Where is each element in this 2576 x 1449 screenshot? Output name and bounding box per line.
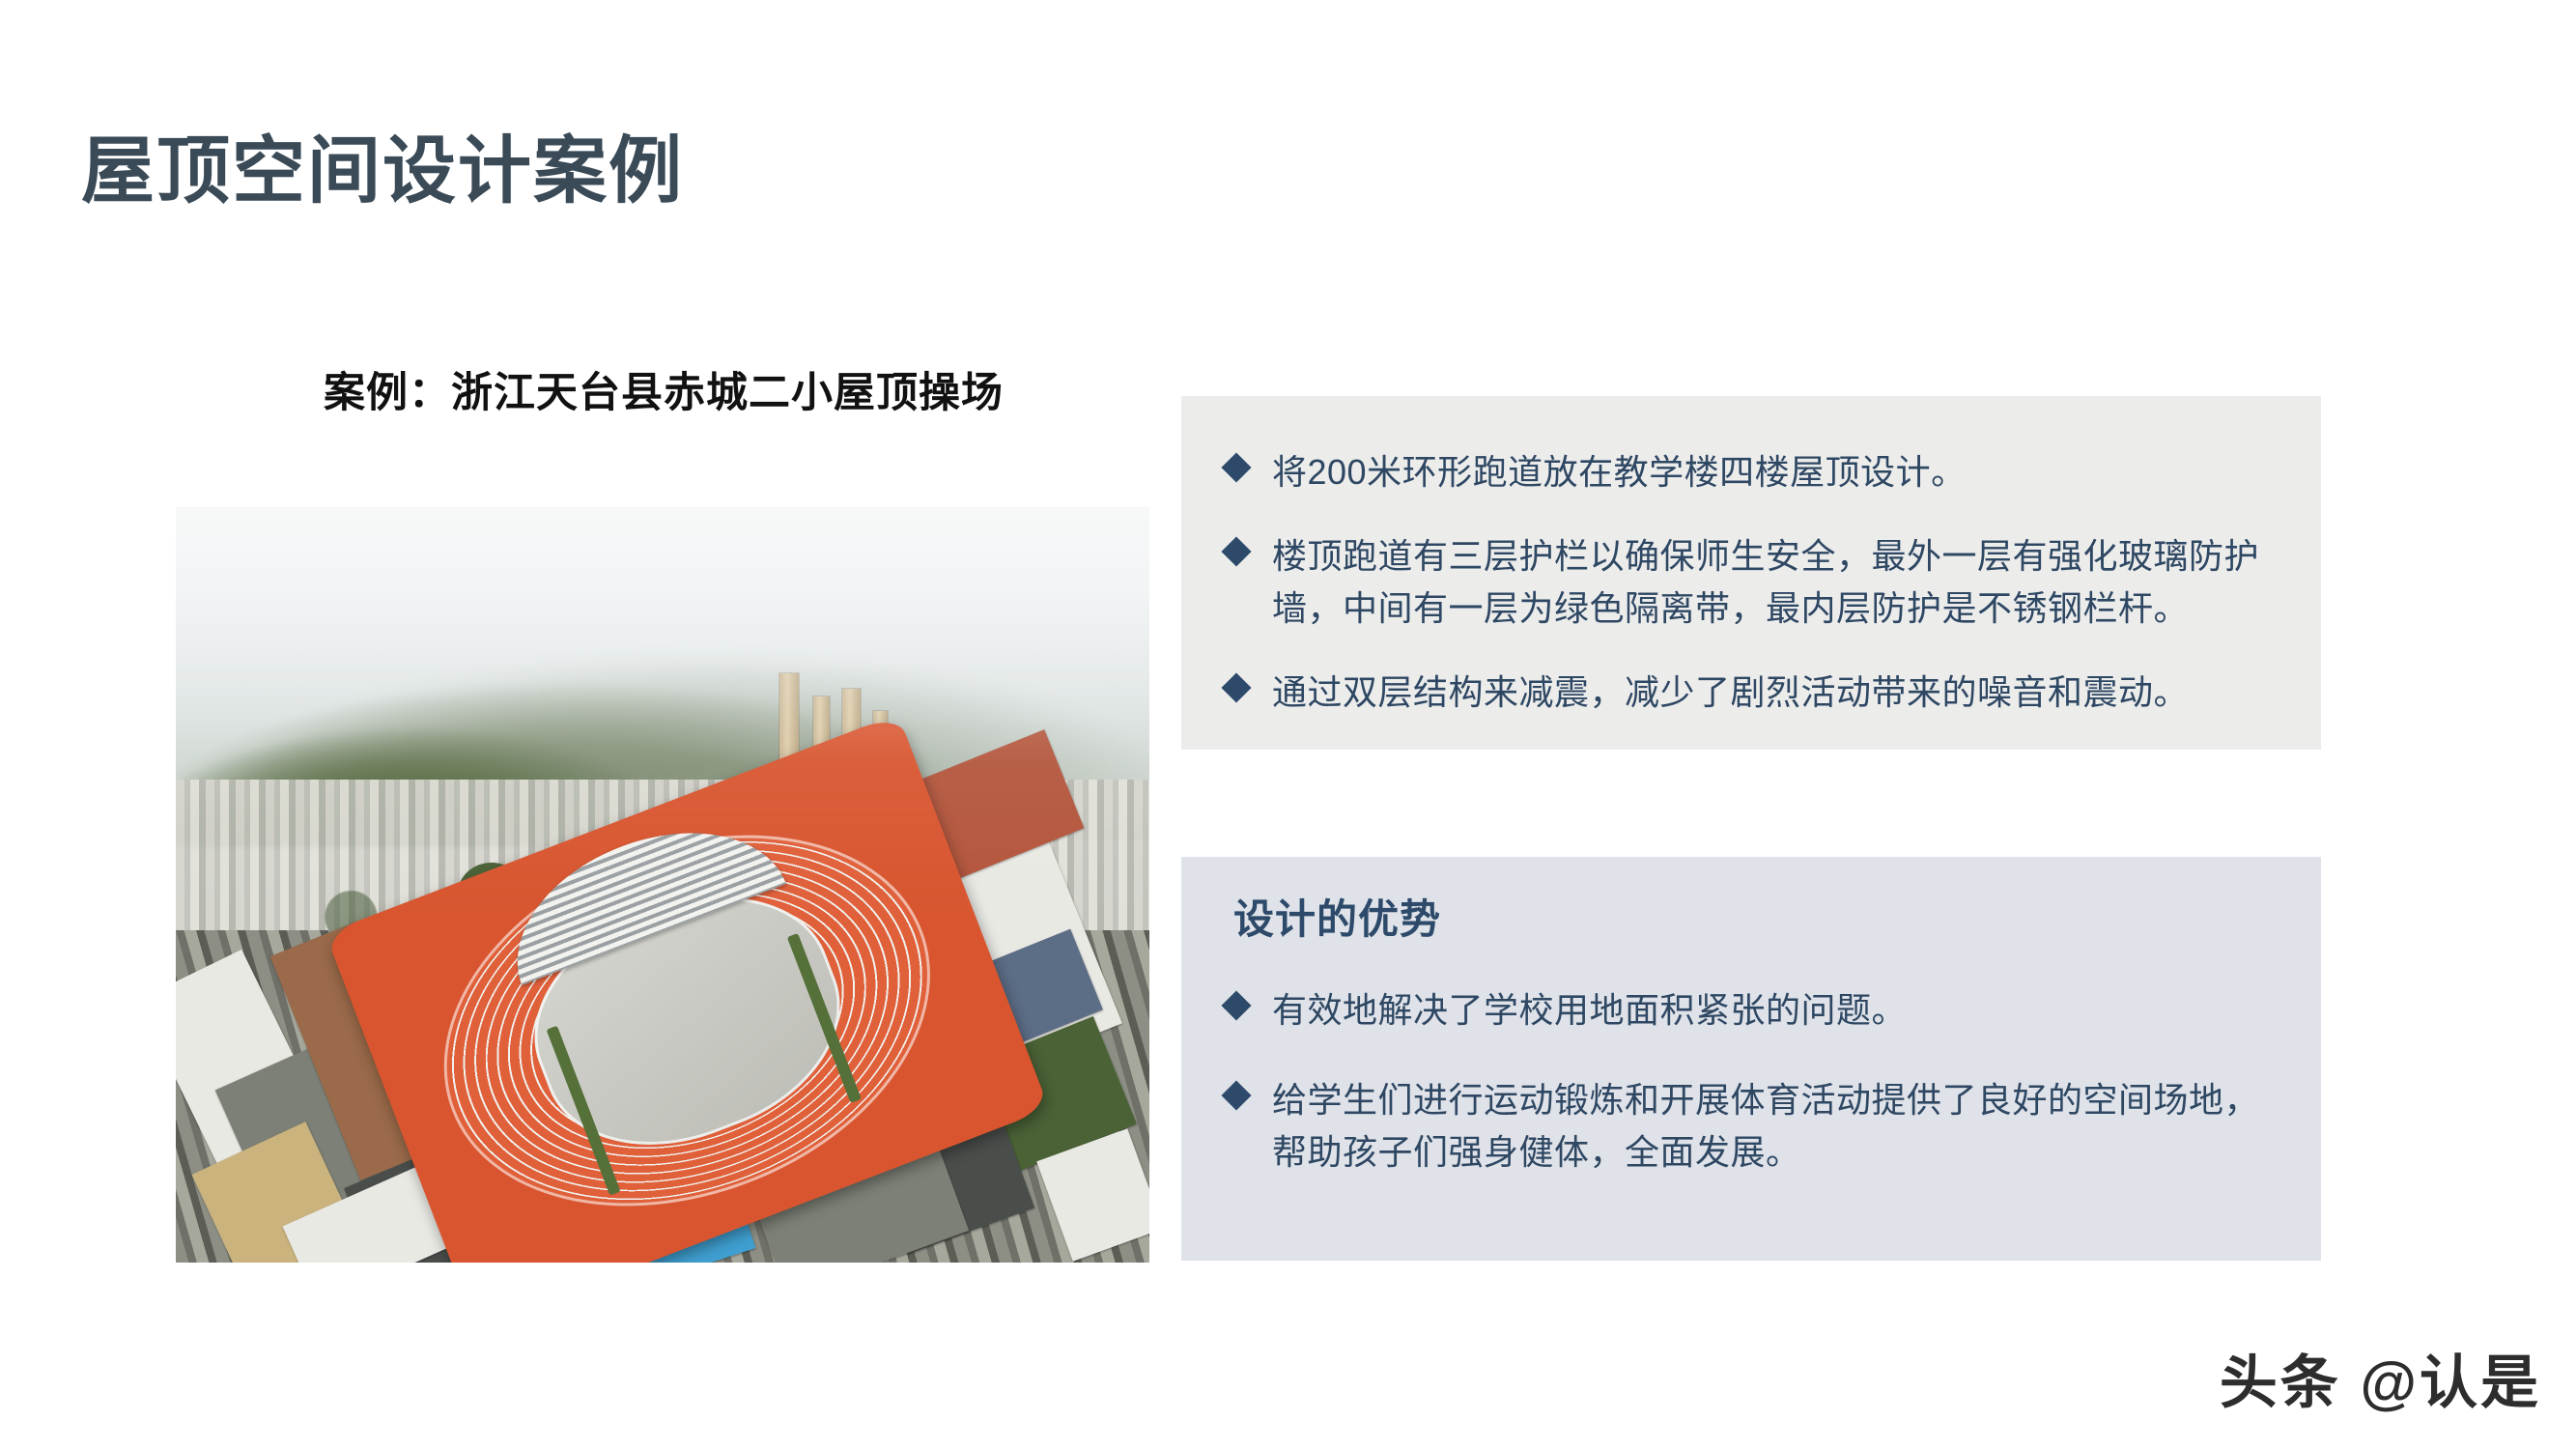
list-item: 给学生们进行运动锻炼和开展体育活动提供了良好的空间场地，帮助孩子们强身健体，全面… [1226,1074,2277,1178]
photo-caption: 案例：浙江天台县赤城二小屋顶操场 [176,359,1151,419]
facts-panel: 将200米环形跑道放在教学楼四楼屋顶设计。 楼顶跑道有三层护栏以确保师生安全，最… [1181,396,2321,750]
diamond-bullet-icon [1221,672,1251,702]
slide-canvas: 屋顶空间设计案例 案例：浙江天台县赤城二小屋顶操场 [0,0,2576,1449]
list-item: 有效地解决了学校用地面积紧张的问题。 [1226,984,2277,1036]
facts-bullet-list: 将200米环形跑道放在教学楼四楼屋顶设计。 楼顶跑道有三层护栏以确保师生安全，最… [1226,446,2277,718]
diamond-bullet-icon [1221,452,1251,482]
benefits-bullet-text: 有效地解决了学校用地面积紧张的问题。 [1272,984,2277,1036]
facts-bullet-text: 将200米环形跑道放在教学楼四楼屋顶设计。 [1272,446,2277,497]
facts-bullet-text: 通过双层结构来减震，减少了剧烈活动带来的噪音和震动。 [1272,667,2277,718]
list-item: 楼顶跑道有三层护栏以确保师生安全，最外一层有强化玻璃防护墙，中间有一层为绿色隔离… [1226,530,2277,634]
page-title: 屋顶空间设计案例 [81,133,684,211]
diamond-bullet-icon [1221,537,1251,567]
facts-bullet-text: 楼顶跑道有三层护栏以确保师生安全，最外一层有强化玻璃防护墙，中间有一层为绿色隔离… [1272,530,2277,634]
benefits-bullet-text: 给学生们进行运动锻炼和开展体育活动提供了良好的空间场地，帮助孩子们强身健体，全面… [1272,1074,2277,1178]
benefits-panel: 设计的优势 有效地解决了学校用地面积紧张的问题。 给学生们进行运动锻炼和开展体育… [1181,857,2321,1261]
photo-artwork [176,507,1149,1263]
diamond-bullet-icon [1221,990,1251,1020]
benefits-bullet-list: 有效地解决了学校用地面积紧张的问题。 给学生们进行运动锻炼和开展体育活动提供了良… [1226,984,2277,1178]
rooftop-track-photo [176,507,1149,1263]
list-item: 通过双层结构来减震，减少了剧烈活动带来的噪音和震动。 [1226,667,2277,718]
diamond-bullet-icon [1221,1081,1251,1111]
benefits-panel-heading: 设计的优势 [1233,899,2277,940]
watermark: 头条 @认是 [2220,1336,2541,1420]
list-item: 将200米环形跑道放在教学楼四楼屋顶设计。 [1226,446,2277,497]
